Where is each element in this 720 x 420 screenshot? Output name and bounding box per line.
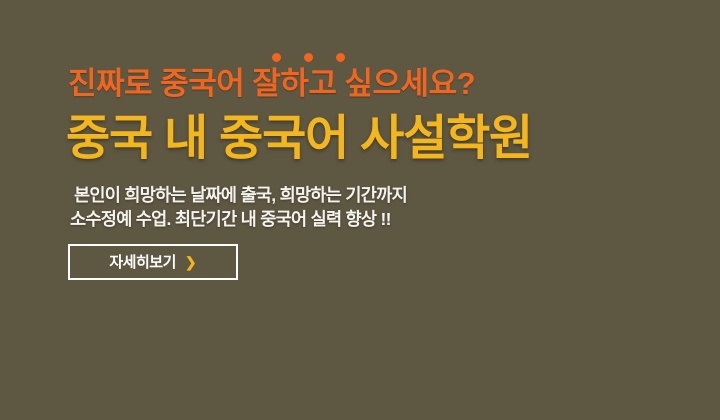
headline-secondary: 진짜로 중국어 잘하고 싶으세요?: [68, 68, 475, 101]
promo-banner: 진짜로 중국어 잘하고 싶으세요? 중국 내 중국어 사설학원 본인이 희망하는…: [0, 0, 720, 420]
banner-content: 진짜로 중국어 잘하고 싶으세요? 중국 내 중국어 사설학원 본인이 희망하는…: [0, 0, 720, 420]
decor-dots: [268, 52, 388, 66]
subtext-line-2: 소수정예 수업. 최단기간 내 중국어 실력 향상 !!: [70, 206, 391, 231]
chevron-right-icon: ❯: [185, 255, 197, 269]
decor-dot-icon: [336, 53, 345, 62]
detail-view-button-label: 자세히보기: [109, 255, 176, 270]
page-title: 중국 내 중국어 사설학원: [66, 114, 532, 165]
decor-dot-icon: [272, 53, 281, 62]
subtext-line-1: 본인이 희망하는 날짜에 출국, 희망하는 기간까지: [74, 182, 407, 207]
decor-dot-icon: [304, 53, 313, 62]
detail-view-button[interactable]: 자세히보기 ❯: [68, 244, 238, 280]
